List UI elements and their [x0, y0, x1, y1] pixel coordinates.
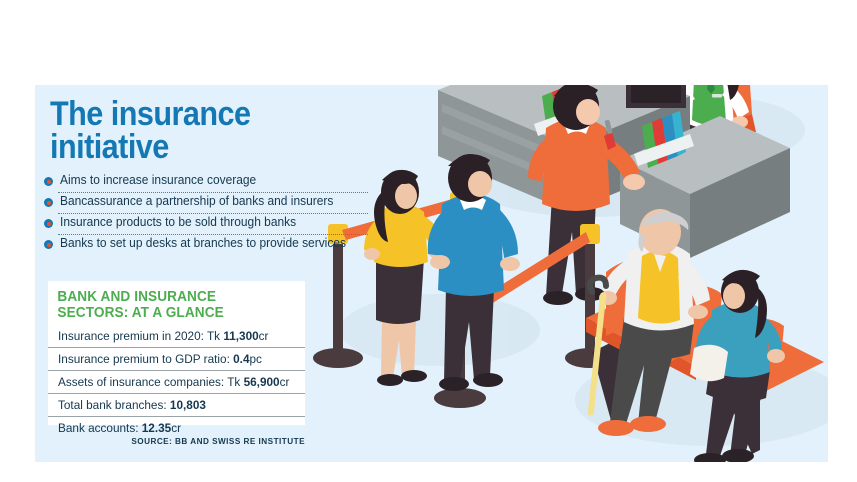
stats-card-title-line2: SECTORS: AT A GLANCE — [57, 306, 280, 322]
list-item: Bancassurance a partnership of banks and… — [44, 194, 324, 215]
source-credit: SOURCE: BB AND SWISS RE INSTITUTE — [131, 436, 305, 446]
dotted-separator — [58, 213, 368, 214]
dotted-separator — [58, 234, 368, 235]
list-item-label: Banks to set up desks at branches to pro… — [60, 236, 346, 251]
stat-label: Insurance premium to GDP ratio: — [58, 352, 233, 366]
list-item-label: Bancassurance a partnership of banks and… — [60, 194, 333, 209]
list-item-label: Aims to increase insurance coverage — [60, 173, 256, 188]
infographic-page: INSURANCE — [0, 0, 857, 482]
stats-rows: Insurance premium in 2020: Tk 11,300cr I… — [48, 321, 305, 439]
key-points-list: Aims to increase insurance coverage Banc… — [44, 173, 324, 257]
page-title-line2: initiative — [50, 131, 347, 164]
svg-text:INSURANCE: INSURANCE — [463, 42, 538, 81]
stat-label: Insurance premium in 2020: Tk — [58, 329, 223, 343]
stat-value: 12.35 — [142, 421, 171, 435]
bullet-target-icon — [44, 177, 53, 186]
stat-suffix: pc — [249, 352, 261, 366]
stat-suffix: cr — [280, 375, 290, 389]
stat-row: Insurance premium in 2020: Tk 11,300cr — [48, 325, 305, 348]
bank-branch-illustration: INSURANCE — [290, 0, 857, 482]
stat-row: Assets of insurance companies: Tk 56,900… — [48, 371, 305, 394]
stat-suffix: cr — [171, 421, 181, 435]
stat-label: Bank accounts: — [58, 421, 142, 435]
dotted-separator — [58, 192, 368, 193]
list-item-label: Insurance products to be sold through ba… — [60, 215, 296, 230]
list-item: Insurance products to be sold through ba… — [44, 215, 324, 236]
desk-monitor-right — [626, 62, 686, 108]
stat-label: Total bank branches: — [58, 398, 170, 412]
desk-monitor — [522, 16, 598, 84]
stats-card-title: BANK AND INSURANCE SECTORS: AT A GLANCE — [48, 281, 290, 321]
stat-value: 56,900 — [244, 375, 280, 389]
stat-value: 10,803 — [170, 398, 206, 412]
list-item: Banks to set up desks at branches to pro… — [44, 236, 324, 257]
stat-row: Insurance premium to GDP ratio: 0.4pc — [48, 348, 305, 371]
page-title: The insurance initiative — [50, 98, 347, 163]
stat-suffix: cr — [259, 329, 269, 343]
bullet-target-icon — [44, 240, 53, 249]
stat-value: 11,300 — [223, 329, 258, 343]
page-title-line1: The insurance — [50, 98, 347, 131]
list-item: Aims to increase insurance coverage — [44, 173, 324, 194]
insurance-sign: INSURANCE — [450, 42, 538, 84]
stats-card-title-line1: BANK AND INSURANCE — [57, 290, 280, 306]
stat-row: Total bank branches: 10,803 — [48, 394, 305, 417]
bullet-target-icon — [44, 198, 53, 207]
bullet-target-icon — [44, 219, 53, 228]
stat-value: 0.4 — [233, 352, 249, 366]
stats-card: BANK AND INSURANCE SECTORS: AT A GLANCE … — [48, 281, 305, 425]
stat-label: Assets of insurance companies: Tk — [58, 375, 244, 389]
